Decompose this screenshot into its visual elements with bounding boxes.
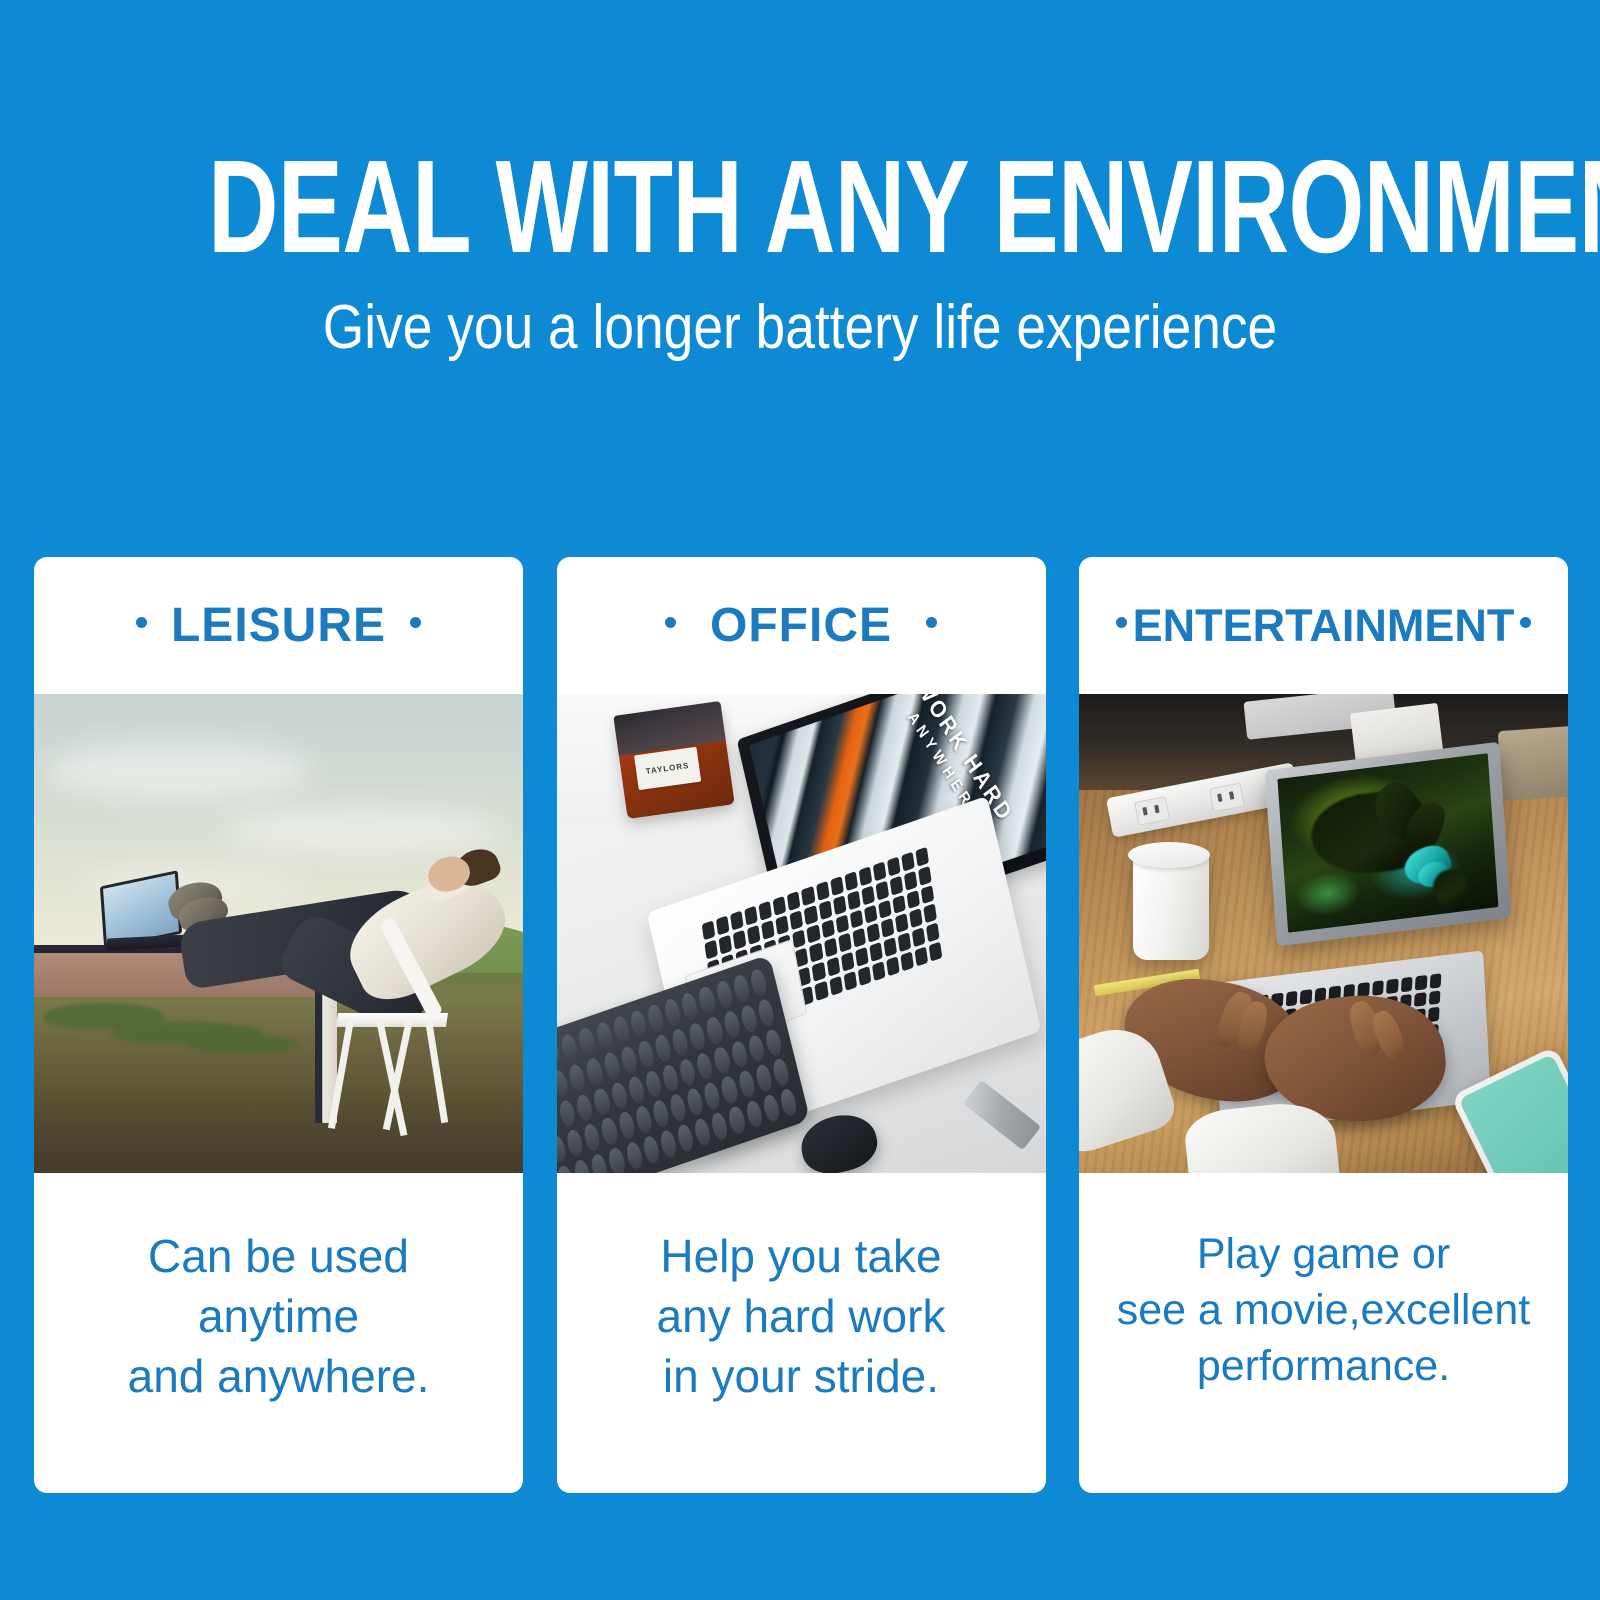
coffee-cup bbox=[1133, 852, 1209, 960]
card-header-entertainment: ENTERTAINMENT bbox=[1079, 557, 1568, 694]
hero-section: DEAL WITH ANY ENVIRONMENT AT EASE Give y… bbox=[0, 0, 1600, 359]
card-photo-office: TAYLORS WORK HARD ANYWHERE hp bbox=[557, 694, 1046, 1173]
game-screen bbox=[1277, 753, 1498, 933]
power-socket bbox=[1134, 796, 1170, 826]
feature-card-office[interactable]: OFFICE TAYLORS WORK HARD ANYWHERE bbox=[557, 557, 1046, 1493]
card-header-label: LEISURE bbox=[171, 598, 386, 653]
card-header-label: OFFICE bbox=[710, 598, 892, 653]
bullet-dot-icon bbox=[926, 617, 937, 628]
grass-tuft bbox=[190, 1035, 300, 1053]
card-photo-entertainment bbox=[1079, 694, 1568, 1173]
feature-card-leisure[interactable]: LEISURE bbox=[34, 557, 523, 1493]
card-photo-leisure bbox=[34, 694, 523, 1173]
bullet-dot-icon bbox=[410, 617, 421, 628]
coffee-bag: TAYLORS bbox=[613, 701, 734, 819]
bullet-dot-icon bbox=[1116, 617, 1127, 628]
card-caption-entertainment: Play game or see a movie,excellent perfo… bbox=[1079, 1173, 1568, 1493]
cloud-shape bbox=[44, 742, 313, 799]
card-header-leisure: LEISURE bbox=[34, 557, 523, 694]
bullet-dot-icon bbox=[1520, 617, 1531, 628]
coffee-bag-label: TAYLORS bbox=[634, 747, 701, 791]
feature-card-entertainment[interactable]: ENTERTAINMENT bbox=[1079, 557, 1568, 1493]
bullet-dot-icon bbox=[136, 617, 147, 628]
power-socket bbox=[1209, 783, 1245, 813]
card-caption-office: Help you take any hard work in your stri… bbox=[557, 1173, 1046, 1493]
background-laptop bbox=[1497, 724, 1568, 800]
page-title: DEAL WITH ANY ENVIRONMENT AT EASE bbox=[208, 0, 1392, 263]
card-header-office: OFFICE bbox=[557, 557, 1046, 694]
card-header-label: ENTERTAINMENT bbox=[1133, 600, 1515, 652]
page-subtitle: Give you a longer battery life experienc… bbox=[112, 263, 1488, 359]
cloud-shape bbox=[220, 809, 504, 852]
laptop-lid bbox=[1264, 742, 1511, 947]
card-caption-leisure: Can be used anytime and anywhere. bbox=[34, 1173, 523, 1493]
bullet-dot-icon bbox=[665, 617, 676, 628]
feature-card-row: LEISURE bbox=[34, 557, 1568, 1493]
game-character bbox=[1432, 868, 1468, 909]
